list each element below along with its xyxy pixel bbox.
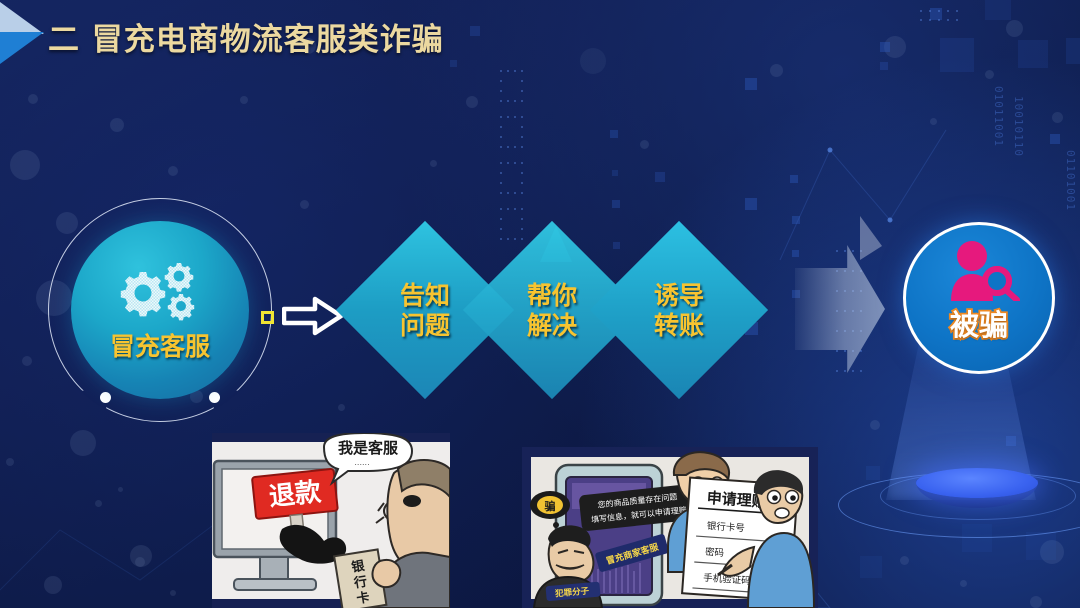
binary-text: 10010110 [1012,96,1025,157]
page-title: 二 冒充电商物流客服类诈骗 [48,14,444,59]
flow-step-3-label: 诱导 转账 [609,281,749,340]
end-node-label: 被骗 [903,302,1055,344]
svg-text:骗: 骗 [545,499,556,513]
slide-header: 二 冒充电商物流客服类诈骗 [0,0,1080,66]
start-node-disc: 冒充客服 [71,221,249,399]
podium-top [916,468,1038,498]
ring-end-dot-right [209,392,220,403]
svg-text:密码: 密码 [705,546,725,559]
flow-start-node[interactable]: 冒充客服 [48,198,272,422]
yellow-square-marker [261,311,274,324]
svg-text:卡: 卡 [355,589,370,607]
arrow-right-outline-icon [282,294,344,338]
svg-text:......: ...... [354,458,369,467]
illustration-refund-scam: 退款 我是客服 ...... [212,433,450,608]
binary-text: 01101001 [1064,150,1077,211]
illustration-claim-form-scam: 您的商品质量存在问题 填写信息，就可以申请理赔 冒充商家客服 骗 [522,447,818,608]
svg-text:退款: 退款 [268,477,324,512]
gray-accent-icon [860,216,894,260]
podium-mid-ring [880,472,1076,520]
svg-text:行: 行 [352,574,368,592]
ring-end-dot-left [100,392,111,403]
slide-root: 01011001 10010110 01101001 [0,0,1080,608]
flow-step-2-label: 帮你 解决 [482,281,622,340]
podium-body [916,480,1038,508]
flow-end-node[interactable]: 被骗 [903,222,1055,374]
podium-outer-ring [838,472,1080,538]
svg-text:我是客服: 我是客服 [338,439,399,457]
arrow-right-gradient-icon [795,245,885,373]
flow-step-1-label: 告知 问题 [355,281,495,340]
person-search-icon [937,239,1021,301]
binary-text: 01011001 [992,86,1005,147]
start-node-label: 冒充客服 [71,327,249,363]
claim-form-scam-drawing: 您的商品质量存在问题 填写信息，就可以申请理赔 冒充商家客服 骗 [522,447,818,608]
gears-icon [117,261,203,323]
refund-scam-drawing: 退款 我是客服 ...... [212,433,450,608]
